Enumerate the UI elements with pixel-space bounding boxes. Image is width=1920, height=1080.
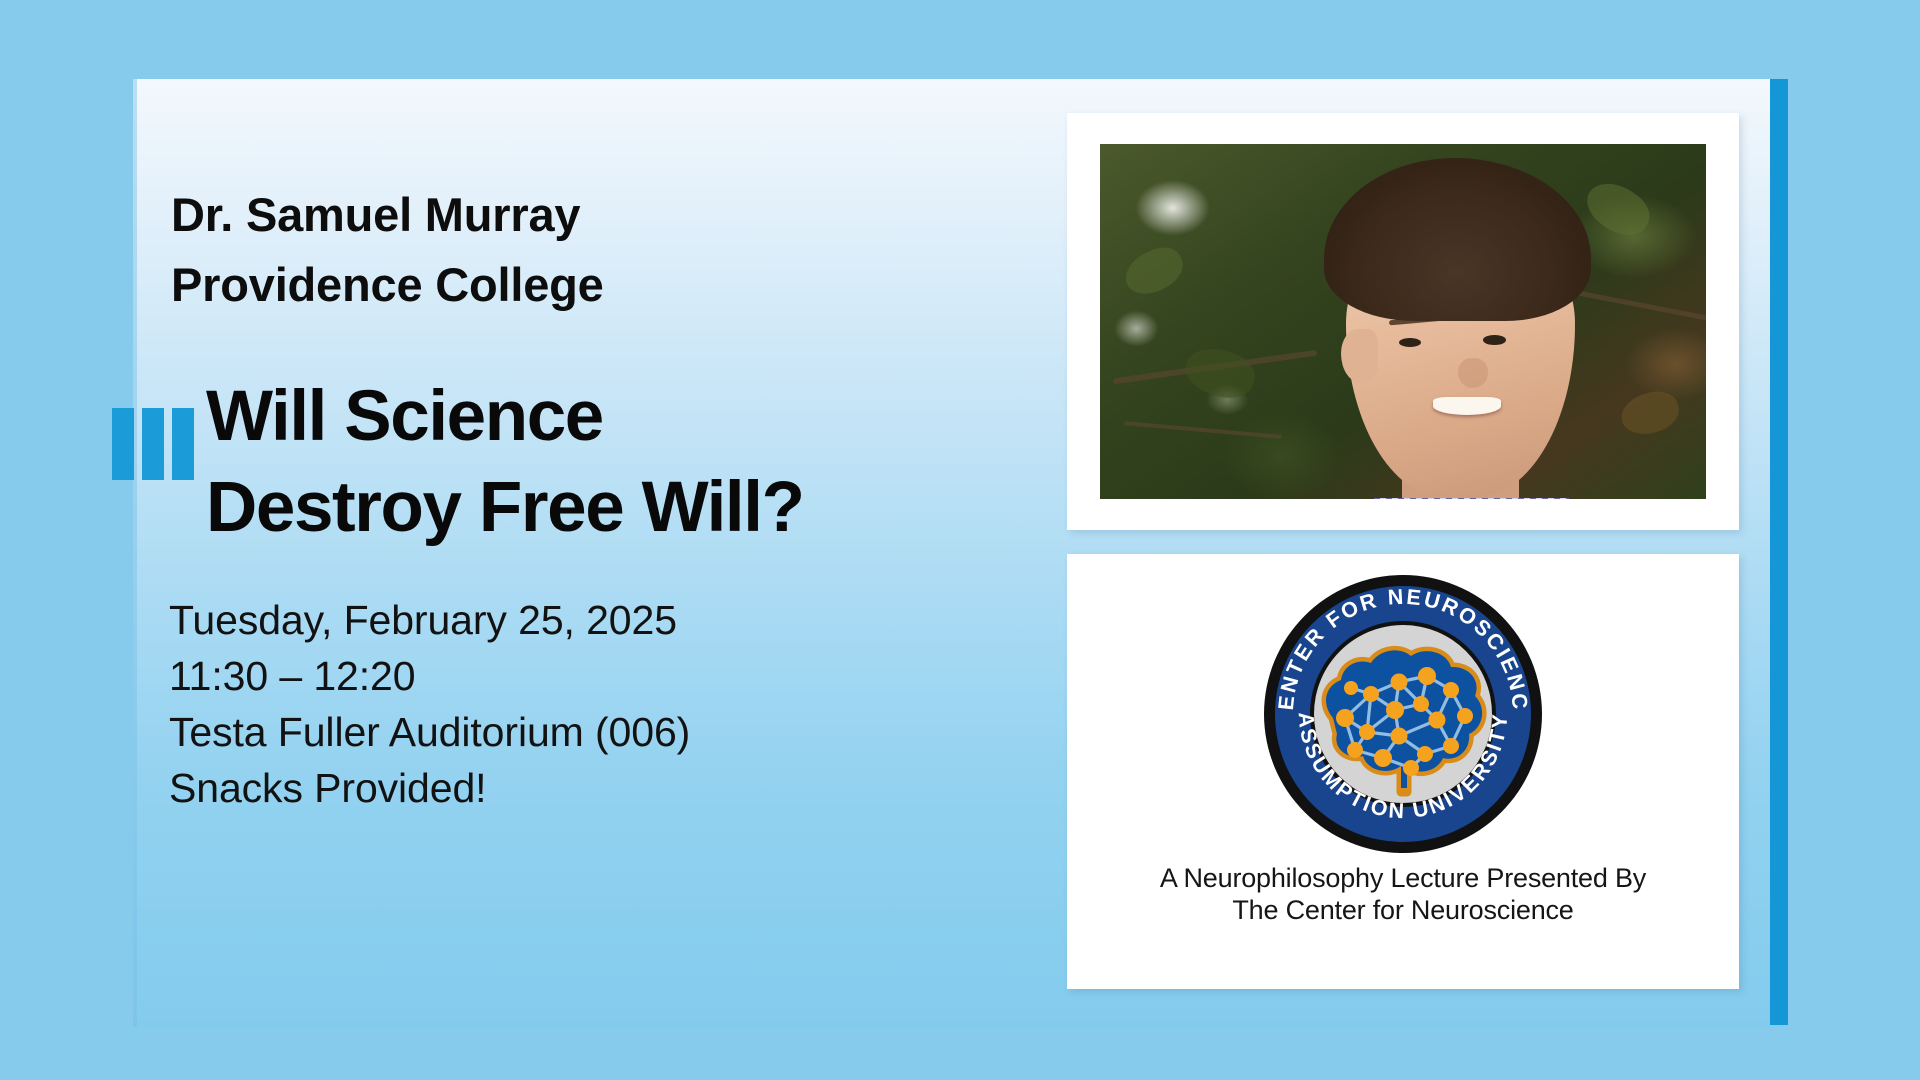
card-left-edge-strip <box>133 79 137 1027</box>
logo-caption: A Neurophilosophy Lecture Presented By T… <box>1067 862 1739 927</box>
photo-subject-eye-right <box>1483 335 1506 345</box>
neuroscience-logo-card: CENTER FOR NEUROSCIENCE ASSUMPTION UNIVE… <box>1067 554 1739 989</box>
photo-subject-ear <box>1341 329 1378 382</box>
event-time: 11:30 – 12:20 <box>169 648 929 704</box>
decorative-bar-1 <box>112 408 134 480</box>
photo-subject-head <box>1318 158 1597 499</box>
decorative-bars <box>112 408 194 480</box>
photo-subject-shirt <box>1374 498 1569 499</box>
speaker-block: Dr. Samuel Murray Providence College <box>171 180 871 320</box>
speaker-name: Dr. Samuel Murray <box>171 180 871 250</box>
title-line-1: Will Science <box>206 372 1066 463</box>
photo-subject-hair <box>1324 158 1592 320</box>
logo-caption-line-1: A Neurophilosophy Lecture Presented By <box>1067 862 1739 894</box>
poster-root: Dr. Samuel Murray Providence College Wil… <box>0 0 1920 1080</box>
decorative-bar-2 <box>142 408 164 480</box>
center-for-neuroscience-logo: CENTER FOR NEUROSCIENCE ASSUMPTION UNIVE… <box>1259 570 1547 858</box>
page-title: Will Science Destroy Free Will? <box>206 372 1066 554</box>
photo-subject-nose <box>1458 358 1488 389</box>
logo-caption-line-2: The Center for Neuroscience <box>1067 894 1739 926</box>
speaker-affiliation: Providence College <box>171 250 871 320</box>
photo-subject-eye-left <box>1399 338 1422 348</box>
event-note: Snacks Provided! <box>169 760 929 816</box>
decorative-bar-3 <box>172 408 194 480</box>
speaker-portrait-photo <box>1100 144 1706 499</box>
event-date: Tuesday, February 25, 2025 <box>169 592 929 648</box>
event-details: Tuesday, February 25, 2025 11:30 – 12:20… <box>169 592 929 817</box>
speaker-photo-frame <box>1067 113 1739 530</box>
event-location: Testa Fuller Auditorium (006) <box>169 704 929 760</box>
title-line-2: Destroy Free Will? <box>206 463 1066 554</box>
photo-subject-mouth <box>1433 397 1502 415</box>
